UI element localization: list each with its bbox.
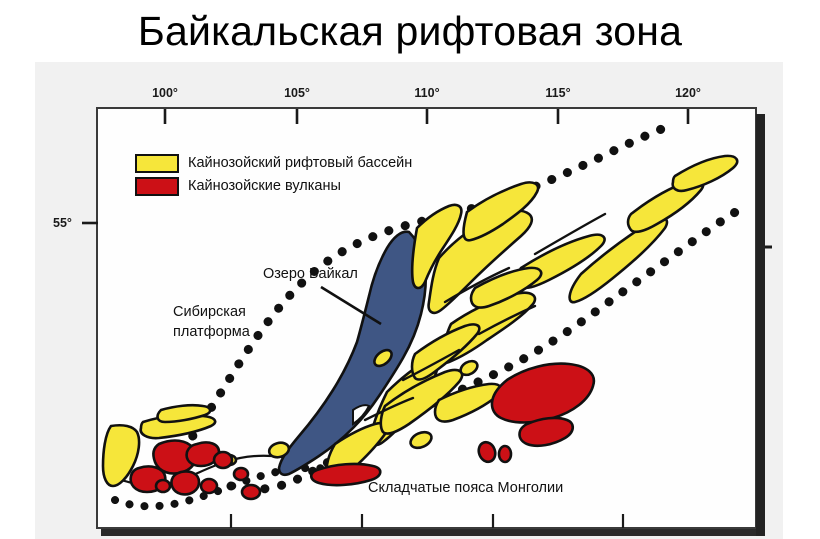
annotation-siberian-platform-line2: платформа <box>173 323 250 343</box>
title-bar: Байкальская рифтовая зона <box>0 0 820 62</box>
legend-item-rift-basin: Кайнозойский рифтовый бассейн <box>135 154 412 173</box>
axis-label-top-4: 120° <box>675 86 701 100</box>
page-title: Байкальская рифтовая зона <box>138 11 682 52</box>
axis-label-top-0: 100° <box>152 86 178 100</box>
legend-swatch-volcanoes <box>135 177 179 196</box>
map-legend: Кайнозойский рифтовый бассейн Кайнозойск… <box>135 154 412 196</box>
legend-label-volcanoes: Кайнозойские вулканы <box>188 179 341 195</box>
annotation-siberian-platform: Сибирская платформа <box>173 303 250 342</box>
map-graphic <box>35 62 783 539</box>
annotation-mongolia-fold-belts: Складчатые пояса Монголии <box>368 479 563 499</box>
figure-panel: 100° 105° 110° 115° 120° 55° Кайнозойски… <box>35 62 783 539</box>
legend-item-volcanoes: Кайнозойские вулканы <box>135 177 412 196</box>
axis-label-left-0: 55° <box>53 216 72 230</box>
axis-label-top-2: 110° <box>414 86 439 100</box>
axis-label-top-1: 105° <box>284 86 310 100</box>
annotation-lake-baikal: Озеро Байкал <box>263 265 358 285</box>
axis-label-top-3: 115° <box>545 86 570 100</box>
map-figure: 100° 105° 110° 115° 120° 55° Кайнозойски… <box>35 62 783 539</box>
legend-label-rift-basin: Кайнозойский рифтовый бассейн <box>188 156 412 172</box>
annotation-siberian-platform-line1: Сибирская <box>173 303 250 323</box>
legend-swatch-rift-basin <box>135 154 179 173</box>
map-frame-shadow-right <box>756 114 765 536</box>
